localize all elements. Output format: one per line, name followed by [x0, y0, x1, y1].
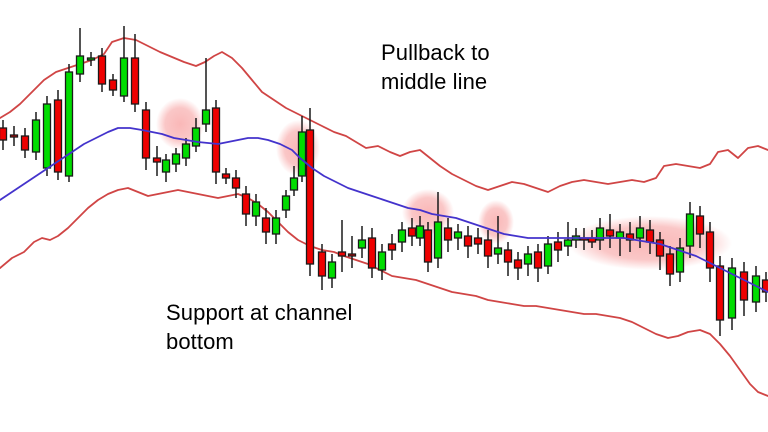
candle-body [515, 260, 522, 268]
candle [213, 100, 220, 184]
candle [307, 108, 314, 276]
candle-body [339, 252, 346, 256]
candle-body [753, 276, 760, 302]
candle [55, 90, 62, 180]
candle-body [173, 154, 180, 164]
candle-body [263, 218, 270, 232]
candle-body [203, 110, 210, 124]
candle-body [687, 214, 694, 246]
candle-body [66, 72, 73, 176]
candle-body [359, 240, 366, 248]
candle-body [417, 226, 424, 238]
candle-body [22, 136, 29, 150]
candle-body [163, 160, 170, 172]
candle-body [435, 222, 442, 258]
highlight-pullback-4 [478, 200, 514, 244]
candle-body [475, 238, 482, 244]
candle-body [637, 228, 644, 238]
candle-body [253, 202, 260, 216]
candle-body [233, 178, 240, 188]
candle-body [307, 130, 314, 264]
candle-body [349, 254, 356, 256]
candle-body [379, 252, 386, 270]
candle-body [143, 110, 150, 158]
candle-body [299, 132, 306, 176]
candle-body [399, 230, 406, 242]
candle-body [555, 242, 562, 250]
annotation-pullback-to-middle-line: Pullback to middle line [381, 38, 490, 96]
candle-body [657, 240, 664, 256]
candle-body [110, 80, 117, 90]
candle-body [565, 240, 572, 246]
candle-body [291, 178, 298, 190]
candle-body [505, 250, 512, 262]
candle-body [88, 58, 95, 60]
candle-body [183, 144, 190, 158]
candle-body [369, 238, 376, 268]
candle-body [425, 230, 432, 262]
candle-body [99, 56, 106, 84]
candle-body [329, 262, 336, 278]
chart-screenshot: Pullback to middle line Support at chann… [0, 0, 768, 432]
candle-body [389, 244, 396, 250]
candle-body [667, 254, 674, 274]
candle-body [193, 128, 200, 146]
candle-body [0, 128, 7, 140]
candle-body [455, 232, 462, 238]
candle-body [647, 230, 654, 242]
candle-body [465, 236, 472, 246]
candle [44, 96, 51, 176]
candle-body [77, 56, 84, 74]
candle-body [243, 194, 250, 214]
candle-body [273, 218, 280, 234]
candle-body [607, 230, 614, 236]
candle-body [154, 158, 161, 162]
candle-body [535, 252, 542, 268]
candle-body [445, 228, 452, 240]
candle-body [283, 196, 290, 210]
candle-body [697, 216, 704, 234]
candle-body [121, 58, 128, 96]
candle [66, 64, 73, 182]
candle-body [495, 248, 502, 254]
candle-body [409, 228, 416, 236]
candle-body [525, 254, 532, 264]
candle-body [545, 244, 552, 266]
candle-body [33, 120, 40, 152]
candle-body [485, 240, 492, 256]
candle-body [223, 174, 230, 178]
annotation-support-at-channel-bottom: Support at channel bottom [166, 298, 353, 356]
candle-body [717, 266, 724, 320]
candle-body [213, 108, 220, 172]
candle-body [44, 104, 51, 168]
candle-body [319, 252, 326, 276]
candle-body [132, 58, 139, 104]
candle-body [741, 272, 748, 300]
candle-body [11, 135, 18, 137]
